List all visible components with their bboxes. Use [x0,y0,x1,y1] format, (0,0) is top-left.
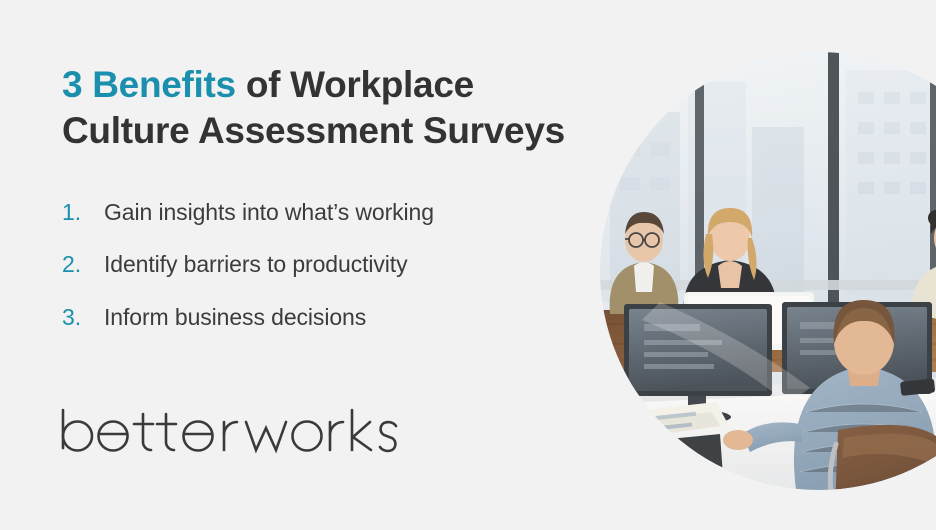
benefits-list: 1. Gain insights into what’s working 2. … [62,199,602,332]
list-item-number: 1. [62,199,104,227]
content-column: 3 Benefits of Workplace Culture Assessme… [62,62,602,356]
list-item-number: 3. [62,304,104,332]
list-item: 2. Identify barriers to productivity [62,251,602,279]
betterworks-logo: betterworks [60,404,400,464]
headline-line2: Culture Assessment Surveys [62,110,565,151]
page-title: 3 Benefits of Workplace Culture Assessme… [62,62,602,155]
list-item-label: Inform business decisions [104,304,366,332]
list-item-label: Gain insights into what’s working [104,199,434,227]
office-team-collaboration-photo [600,52,936,490]
list-item: 3. Inform business decisions [62,304,602,332]
headline-rest-line1: of Workplace [236,64,474,105]
list-item: 1. Gain insights into what’s working [62,199,602,227]
list-item-label: Identify barriers to productivity [104,251,408,279]
list-item-number: 2. [62,251,104,279]
slide-canvas: 3 Benefits of Workplace Culture Assessme… [0,0,936,530]
headline-accent: 3 Benefits [62,64,236,105]
